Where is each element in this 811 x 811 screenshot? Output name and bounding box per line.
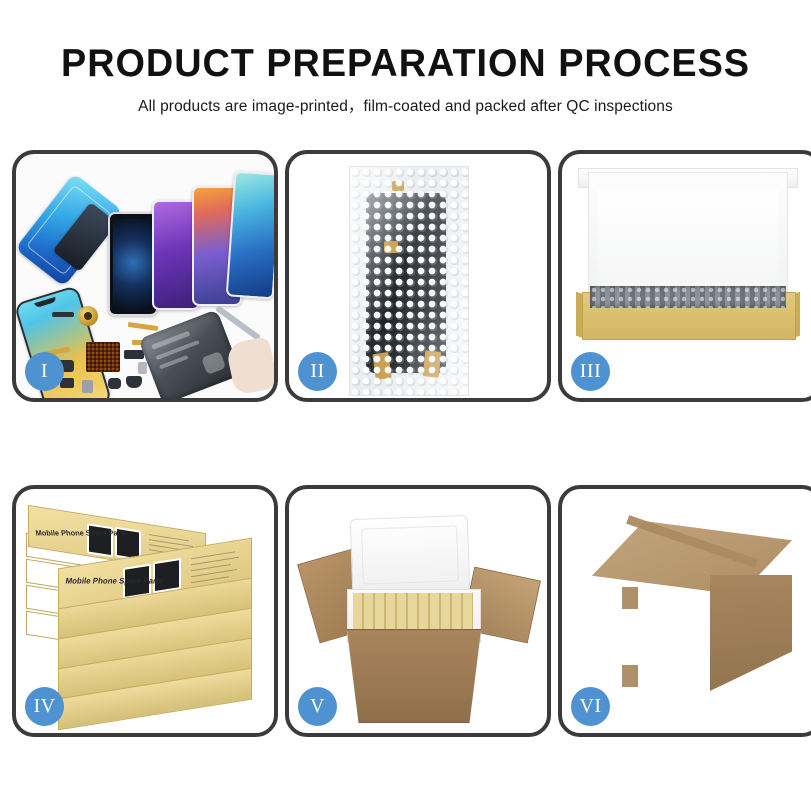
step-panel-6: VI bbox=[558, 485, 811, 737]
camera-module-icon bbox=[126, 376, 142, 388]
bubble-wrap-package bbox=[349, 166, 469, 396]
box-label: Mobile Phone Spare Parts bbox=[35, 528, 128, 537]
flex-cable-icon bbox=[128, 322, 158, 331]
page-title: PRODUCT PREPARATION PROCESS bbox=[12, 44, 799, 85]
header: PRODUCT PREPARATION PROCESS All products… bbox=[0, 0, 811, 116]
tape-strip bbox=[622, 587, 638, 609]
chip-icon bbox=[124, 350, 144, 359]
step-badge-6: VI bbox=[571, 687, 610, 726]
connector-mesh-icon bbox=[86, 342, 120, 372]
phone-teal-icon bbox=[226, 170, 274, 299]
box-label: Mobile Phone Spare Parts bbox=[65, 576, 164, 585]
foam-liner bbox=[598, 190, 778, 296]
step-panel-5: V bbox=[285, 485, 551, 737]
plastic-sheen bbox=[350, 167, 468, 395]
step-badge-2: II bbox=[298, 352, 337, 391]
page-subtitle: All products are image-printed，film-coat… bbox=[0, 94, 811, 116]
step-panel-2: II bbox=[285, 150, 551, 402]
battery-icon bbox=[82, 380, 93, 393]
carton-side bbox=[710, 575, 792, 691]
step-badge-3: III bbox=[571, 352, 610, 391]
step-badge-5: V bbox=[298, 687, 337, 726]
step-panel-4: Mobile Phone Spare Parts Mobile Phone Sp… bbox=[12, 485, 278, 737]
step-badge-1: I bbox=[25, 352, 64, 391]
product-preparation-infographic: PRODUCT PREPARATION PROCESS All products… bbox=[0, 0, 811, 811]
tape-strip bbox=[622, 665, 638, 687]
bubble-wrapped-contents bbox=[590, 286, 786, 308]
step-panel-1: I bbox=[12, 150, 278, 402]
phone-back-housing-icon bbox=[138, 309, 242, 398]
chip-icon bbox=[108, 378, 121, 389]
phone-screen-black-icon bbox=[108, 212, 158, 316]
foam-lid bbox=[350, 515, 471, 595]
process-steps-grid: I II bbox=[12, 150, 802, 737]
chip-icon bbox=[52, 312, 74, 317]
chip-icon bbox=[138, 362, 147, 374]
carton-body bbox=[341, 629, 487, 723]
step-badge-4: IV bbox=[25, 687, 64, 726]
step-panel-3: III bbox=[558, 150, 811, 402]
hand-icon bbox=[225, 336, 274, 396]
speaker-coil-icon bbox=[78, 306, 98, 326]
